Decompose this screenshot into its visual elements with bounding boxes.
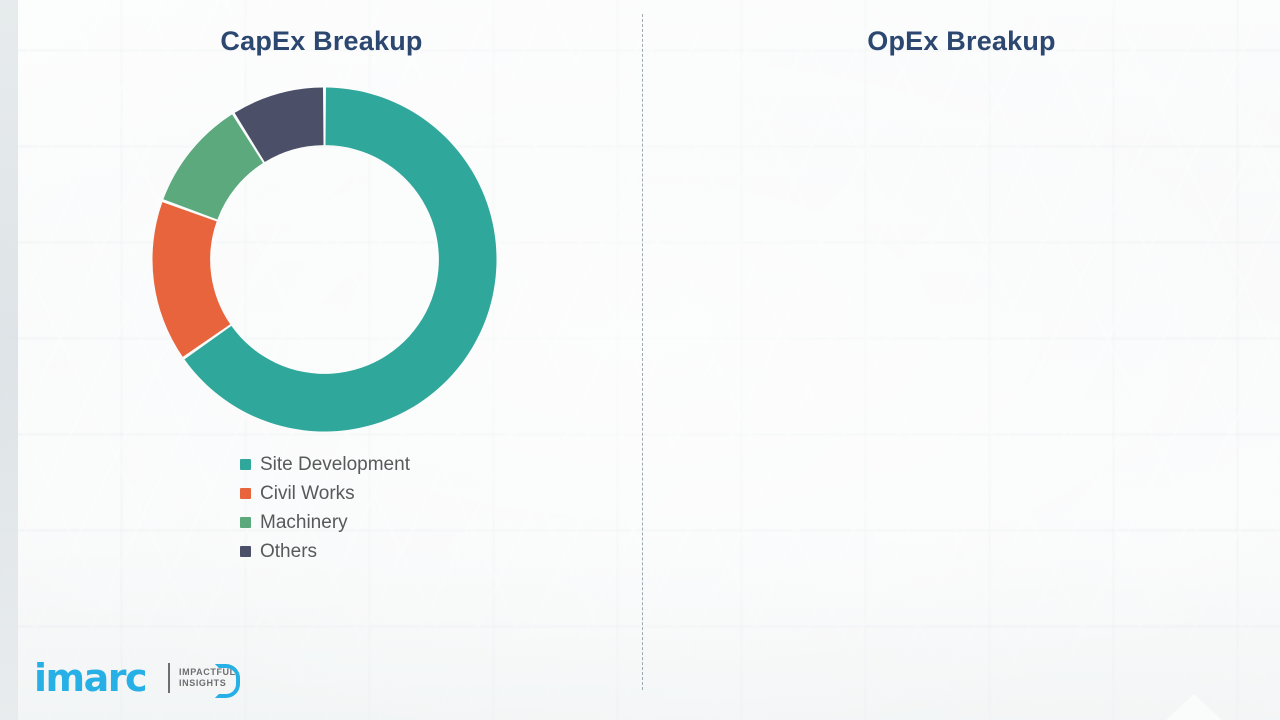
capex-donut-chart	[152, 87, 497, 432]
logo-divider	[168, 663, 170, 693]
legend-item-label: Machinery	[260, 513, 348, 532]
capex-donut-svg	[152, 87, 497, 432]
legend-color-swatch	[240, 517, 251, 528]
donut-slice	[153, 202, 231, 357]
capex-panel: CapEx Breakup Site DevelopmentCivil Work…	[0, 0, 643, 720]
capex-legend: Site DevelopmentCivil WorksMachineryOthe…	[240, 450, 410, 566]
legend-item[interactable]: Site Development	[240, 450, 410, 479]
imarc-arc-icon	[215, 664, 240, 698]
legend-color-swatch	[240, 546, 251, 557]
legend-color-swatch	[240, 488, 251, 499]
imarc-wordmark: imarc	[34, 659, 146, 697]
slide-canvas: CapEx Breakup Site DevelopmentCivil Work…	[0, 0, 1280, 720]
legend-item[interactable]: Civil Works	[240, 479, 410, 508]
opex-panel: OpEx Breakup Raw MaterialsSalaries and W…	[643, 0, 1280, 720]
legend-item[interactable]: Machinery	[240, 508, 410, 537]
legend-color-swatch	[240, 459, 251, 470]
legend-item-label: Others	[260, 542, 317, 561]
legend-item-label: Civil Works	[260, 484, 355, 503]
legend-item-label: Site Development	[260, 455, 410, 474]
imarc-logo: imarc IMPACTFUL INSIGHTS	[34, 658, 236, 698]
opex-chart-title: OpEx Breakup	[643, 26, 1280, 57]
capex-chart-title: CapEx Breakup	[0, 26, 643, 57]
legend-item[interactable]: Others	[240, 537, 410, 566]
